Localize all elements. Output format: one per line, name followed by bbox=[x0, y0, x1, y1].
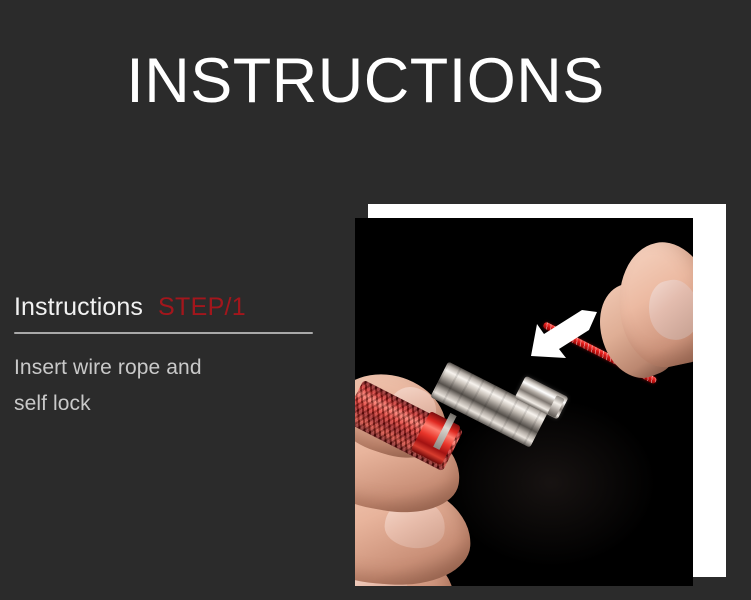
instruction-photo bbox=[355, 204, 726, 586]
step-badge: STEP/1 bbox=[158, 292, 246, 322]
photo-scene bbox=[355, 218, 693, 586]
instruction-block: Instructions STEP/1 Insert wire rope and… bbox=[14, 292, 324, 422]
instruction-description-line-2: self lock bbox=[14, 386, 314, 422]
arrow-down-left-icon bbox=[527, 308, 597, 360]
instruction-heading-row: Instructions STEP/1 bbox=[14, 292, 324, 325]
photo-frame-right-strip bbox=[693, 204, 726, 577]
instructions-page: INSTRUCTIONS Instructions STEP/1 Insert … bbox=[0, 0, 751, 600]
instruction-description: Insert wire rope and self lock bbox=[14, 350, 314, 422]
page-title: INSTRUCTIONS bbox=[0, 46, 731, 116]
instruction-heading: Instructions bbox=[14, 292, 143, 322]
upper-hand bbox=[605, 236, 693, 386]
instruction-description-line-1: Insert wire rope and bbox=[14, 350, 314, 386]
photo-image bbox=[355, 218, 693, 586]
heading-divider bbox=[14, 332, 313, 334]
